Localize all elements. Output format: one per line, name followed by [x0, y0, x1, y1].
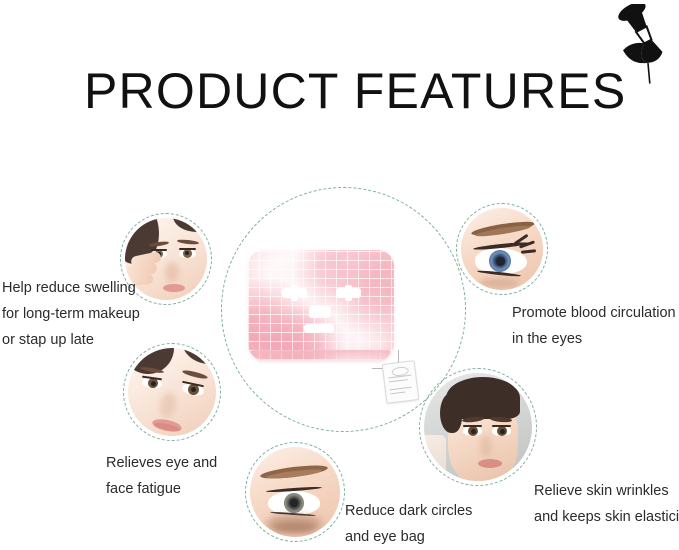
product-features-infographic: PRODUCT FEATURES: [0, 0, 679, 550]
caption-dark-circles: Reduce dark circles and eye bag: [345, 498, 472, 550]
woman-face-tilted-photo: [128, 348, 216, 436]
tag-text-line: [390, 387, 412, 391]
caption-line: and eye bag: [345, 524, 472, 550]
feature-photo-circulation: [456, 203, 548, 295]
tag-text-line: [388, 375, 411, 379]
caption-line: or stap up late: [2, 327, 140, 353]
mask-bottom-edge: [252, 350, 390, 364]
mask-eye-cutout-left: [282, 288, 307, 298]
caption-fatigue: Relieves eye and face fatigue: [106, 450, 217, 502]
close-up-blue-eye-lashes-photo: [461, 208, 543, 290]
page-title: PRODUCT FEATURES: [84, 63, 626, 119]
product-image: [248, 250, 394, 374]
product-hang-tag: [382, 360, 420, 404]
pushpin-icon: [592, 4, 678, 86]
bead-grid-texture: [248, 250, 394, 360]
caption-swelling: Help reduce swelling for long-term makeu…: [2, 275, 140, 353]
caption-line: and keeps skin elasticity: [534, 504, 679, 530]
caption-line: Relieve skin wrinkles: [534, 478, 679, 504]
caption-wrinkles: Relieve skin wrinkles and keeps skin ela…: [534, 478, 679, 530]
mask-mouth-cutout: [304, 324, 334, 333]
tag-text-line: [389, 379, 408, 382]
caption-line: face fatigue: [106, 476, 217, 502]
caption-circulation: Promote blood circulation in the eyes: [512, 300, 676, 352]
caption-line: Help reduce swelling: [2, 275, 140, 301]
woman-portrait-hand-on-chin-photo: [424, 373, 532, 481]
eye-with-dark-circle-photo: [250, 447, 340, 537]
feature-photo-fatigue: [123, 343, 221, 441]
caption-line: Relieves eye and: [106, 450, 217, 476]
caption-line: Promote blood circulation: [512, 300, 676, 326]
mask-eye-cutout-right: [336, 288, 361, 298]
caption-line: Reduce dark circles: [345, 498, 472, 524]
tag-text-line: [390, 391, 405, 394]
feature-photo-wrinkles: [419, 368, 537, 486]
caption-line: for long-term makeup: [2, 301, 140, 327]
beaded-mask-body: [248, 250, 394, 360]
feature-photo-dark-circles: [245, 442, 345, 542]
mask-nose-cutout: [309, 306, 331, 318]
caption-line: in the eyes: [512, 326, 676, 352]
